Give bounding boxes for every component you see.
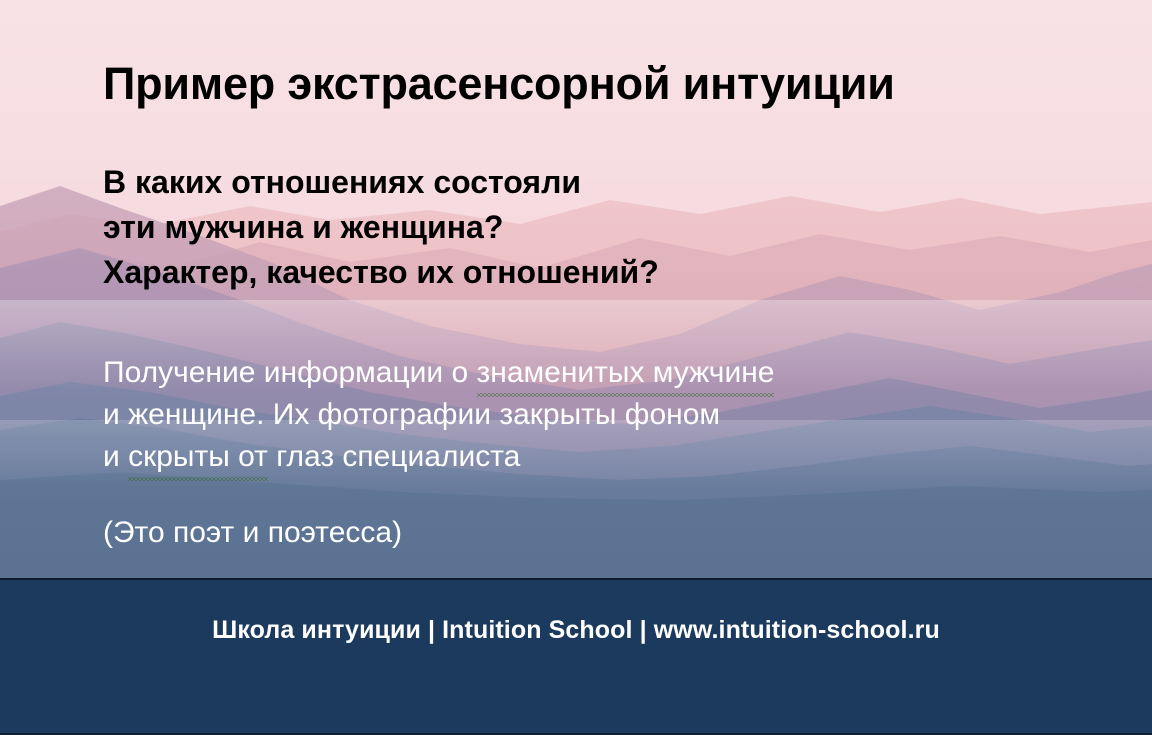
footer-branding-text: Школа интуиции | Intuition School | www.…: [0, 616, 1152, 645]
page-title: Пример экстрасенсорной интуиции: [103, 58, 895, 110]
description-line-1-text: Получение информации о: [103, 356, 477, 389]
footer-bar: Школа интуиции | Intuition School | www.…: [0, 578, 1152, 735]
slide-canvas: Пример экстрасенсорной интуиции В каких …: [0, 0, 1152, 735]
description-block: Получение информации о знаменитых мужчин…: [103, 352, 774, 478]
description-line-3-prefix: и: [103, 440, 128, 473]
question-line-2: эти мужчина и женщина?: [103, 205, 659, 250]
description-line-2: и женщине. Их фотографии закрыты фоном: [103, 394, 774, 436]
slide-content: Пример экстрасенсорной интуиции В каких …: [0, 0, 1152, 578]
description-line-1: Получение информации о знаменитых мужчин…: [103, 352, 774, 394]
question-line-3: Характер, качество их отношений?: [103, 250, 659, 295]
question-block: В каких отношениях состояли эти мужчина …: [103, 160, 659, 295]
parenthetical-note: (Это поэт и поэтесса): [103, 516, 402, 550]
spellcheck-flagged-phrase-1: знаменитых мужчине: [477, 352, 775, 394]
question-line-1: В каких отношениях состояли: [103, 160, 659, 205]
spellcheck-flagged-phrase-2: скрыты от: [128, 436, 268, 478]
description-line-3: и скрыты от глаз специалиста: [103, 436, 774, 478]
description-line-3-suffix: глаз специалиста: [268, 440, 520, 473]
